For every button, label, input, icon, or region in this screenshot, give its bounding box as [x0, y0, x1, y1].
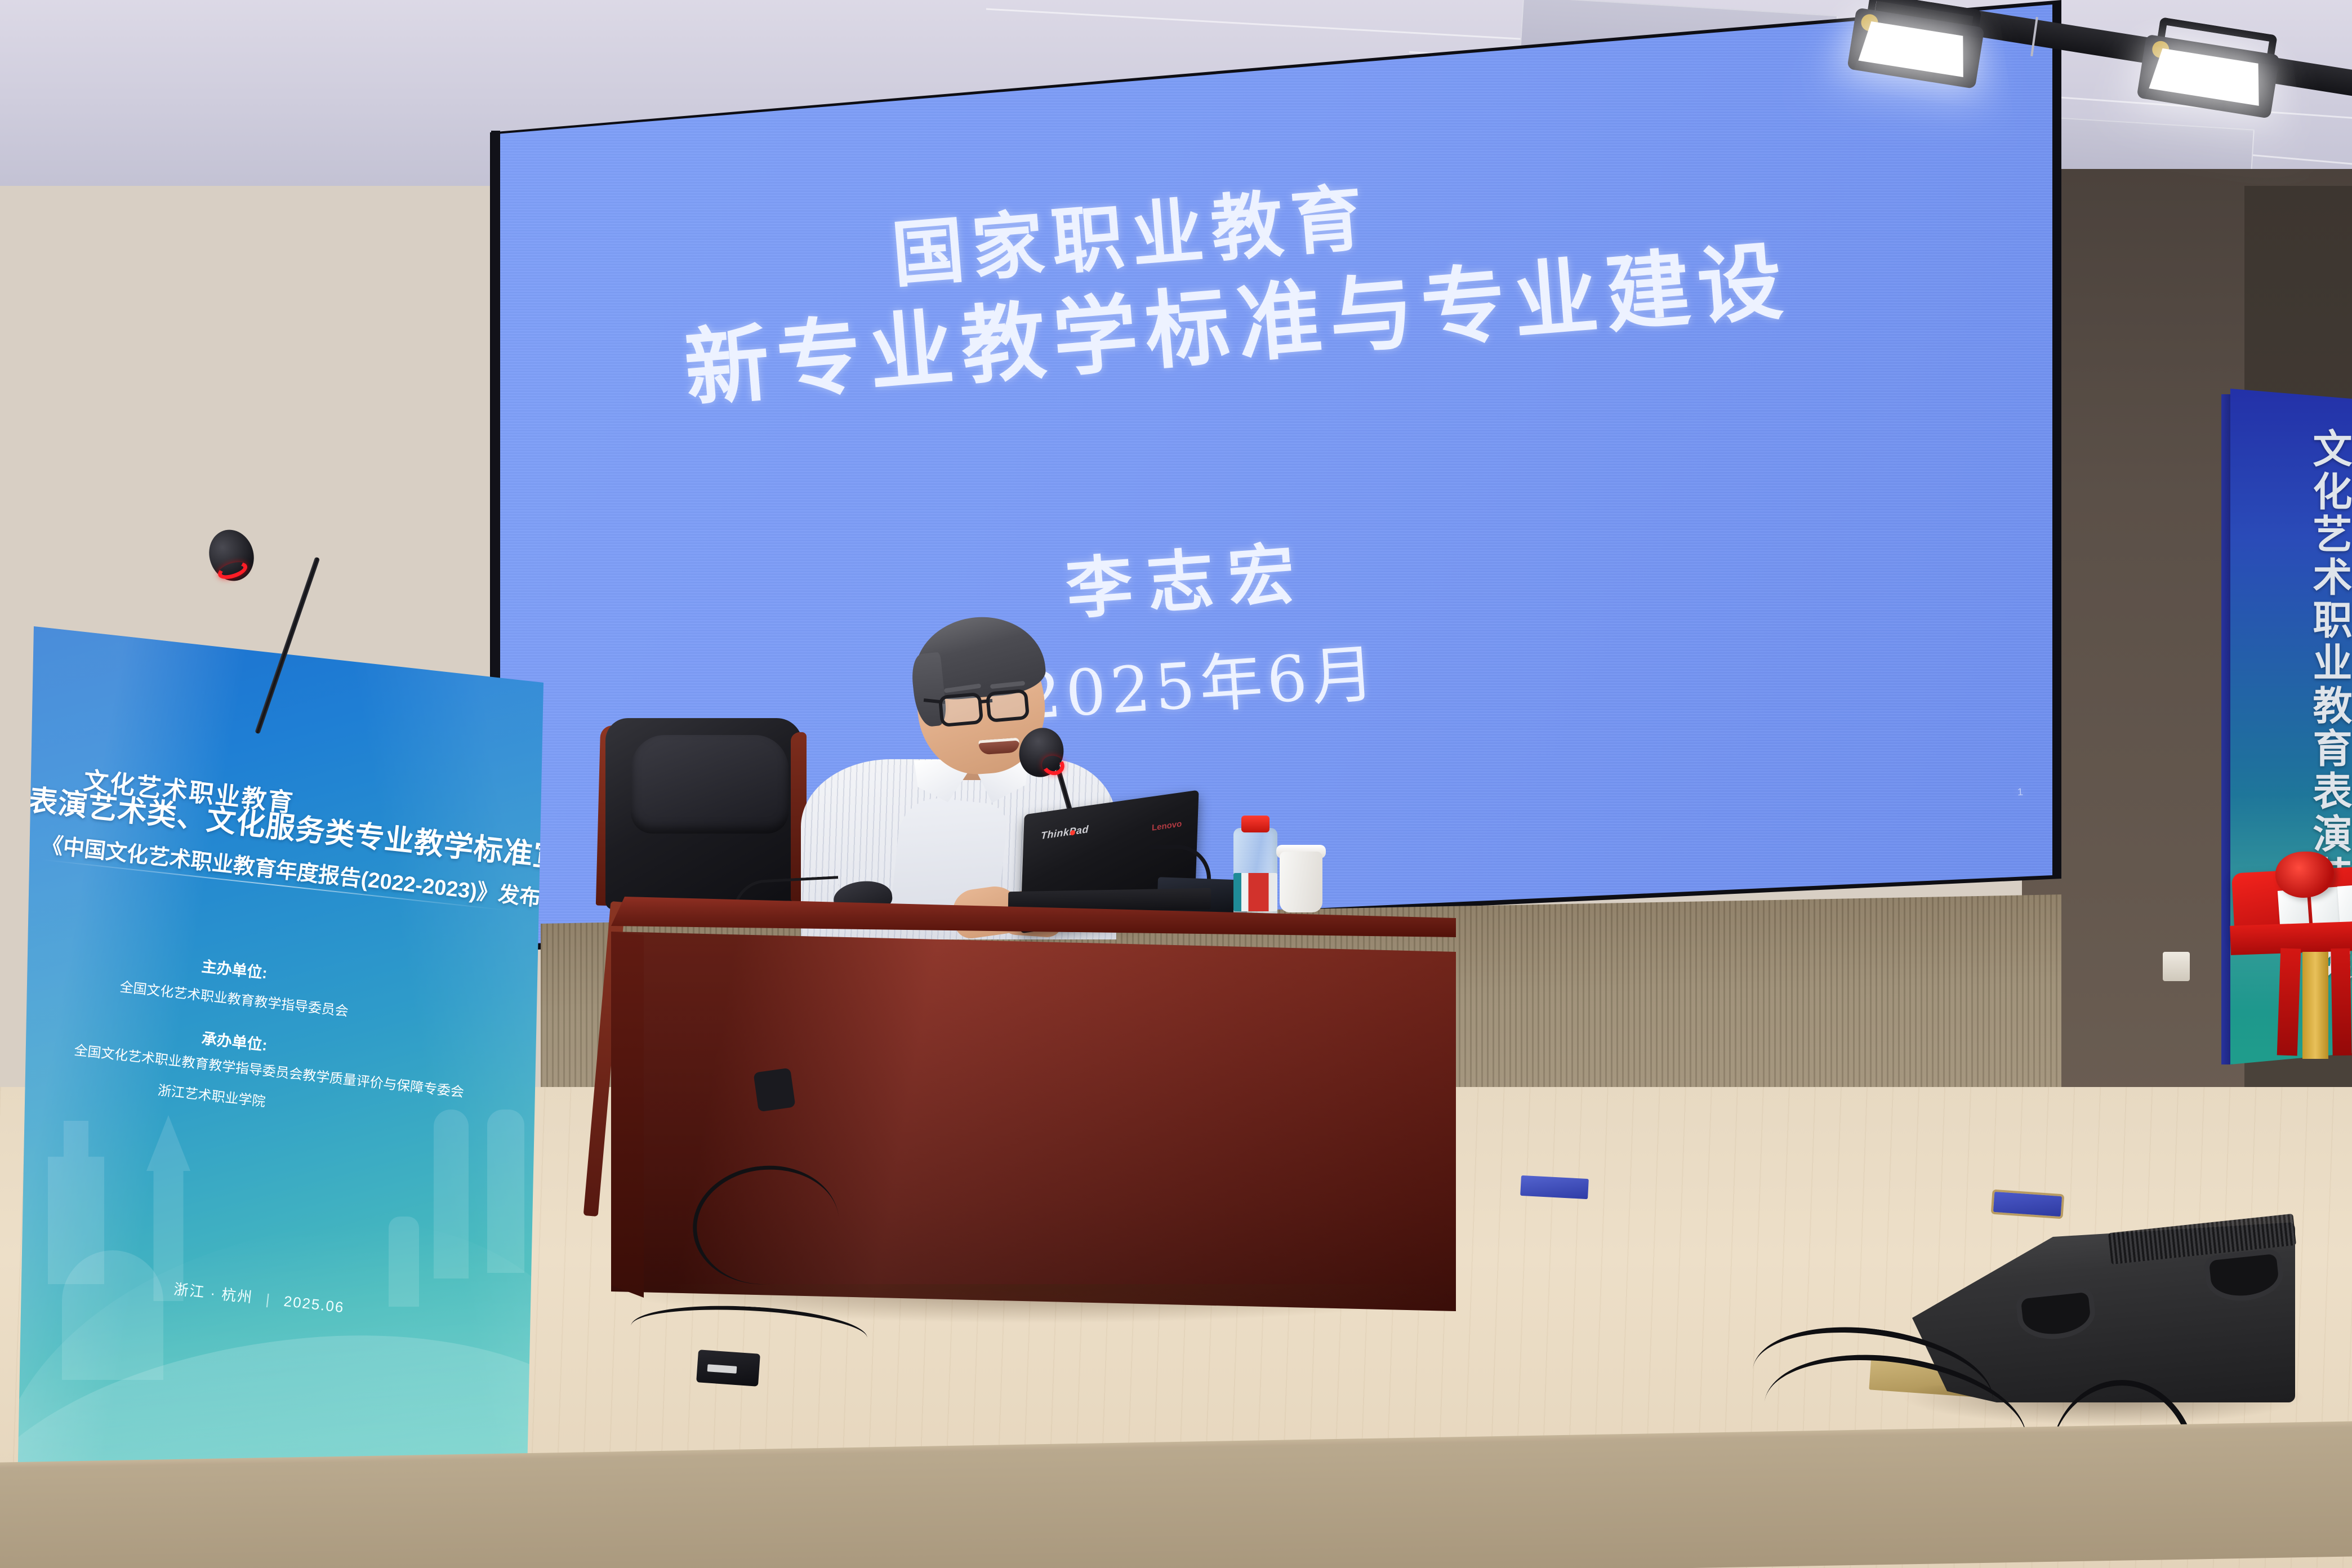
desk-cable-clip — [753, 1068, 795, 1112]
glasses-icon — [986, 689, 1030, 723]
wall-socket — [2163, 952, 2190, 981]
podium-organizer-name-1: 全国文化艺术职业教育教学指导委员会教学质量评价与保障专委会 — [73, 1039, 465, 1101]
chair-cushion — [631, 735, 789, 834]
desk-side-panel — [611, 932, 644, 1298]
slide-page-marker: 1 — [2017, 786, 2023, 798]
conference-stage-photo: 国家职业教育 新专业教学标准与专业建设 李志宏 2025年6月 1 文化艺术职业… — [0, 0, 2352, 1568]
water-bottle-label — [1233, 873, 1277, 911]
podium-location: 浙江 · 杭州 — [173, 1281, 254, 1306]
ribbon-tail — [2277, 948, 2301, 1055]
podium-footer: 浙江 · 杭州 | 2025.06 — [173, 1278, 346, 1317]
podium-date: 2025.06 — [283, 1293, 345, 1316]
floor-marker — [1520, 1175, 1589, 1199]
podium-host-name: 全国文化艺术职业教育教学指导委员会 — [119, 975, 349, 1020]
podium-text-block: 文化艺术职业教育 表演艺术类、文化服务类专业教学标准宣贯培训 《中国文化艺术职业… — [17, 620, 552, 1521]
podium-organizer-label: 承办单位: — [201, 1026, 269, 1055]
water-bottle-cap — [1241, 816, 1269, 832]
podium-organizer-name-2: 浙江艺术职业学院 — [157, 1079, 267, 1111]
podium-banner-board: 文化艺术职业教育 表演艺术类、文化服务类专业教学标准宣贯培训 《中国文化艺术职业… — [17, 620, 552, 1521]
podium-separator: | — [257, 1290, 280, 1309]
paper-cup-icon — [1280, 852, 1322, 912]
glasses-icon — [938, 692, 984, 727]
podium-host-label: 主办单位: — [201, 954, 269, 983]
ribbon-tail — [2331, 948, 2351, 1056]
display-book — [2337, 884, 2352, 922]
book-stand — [2302, 952, 2328, 1059]
